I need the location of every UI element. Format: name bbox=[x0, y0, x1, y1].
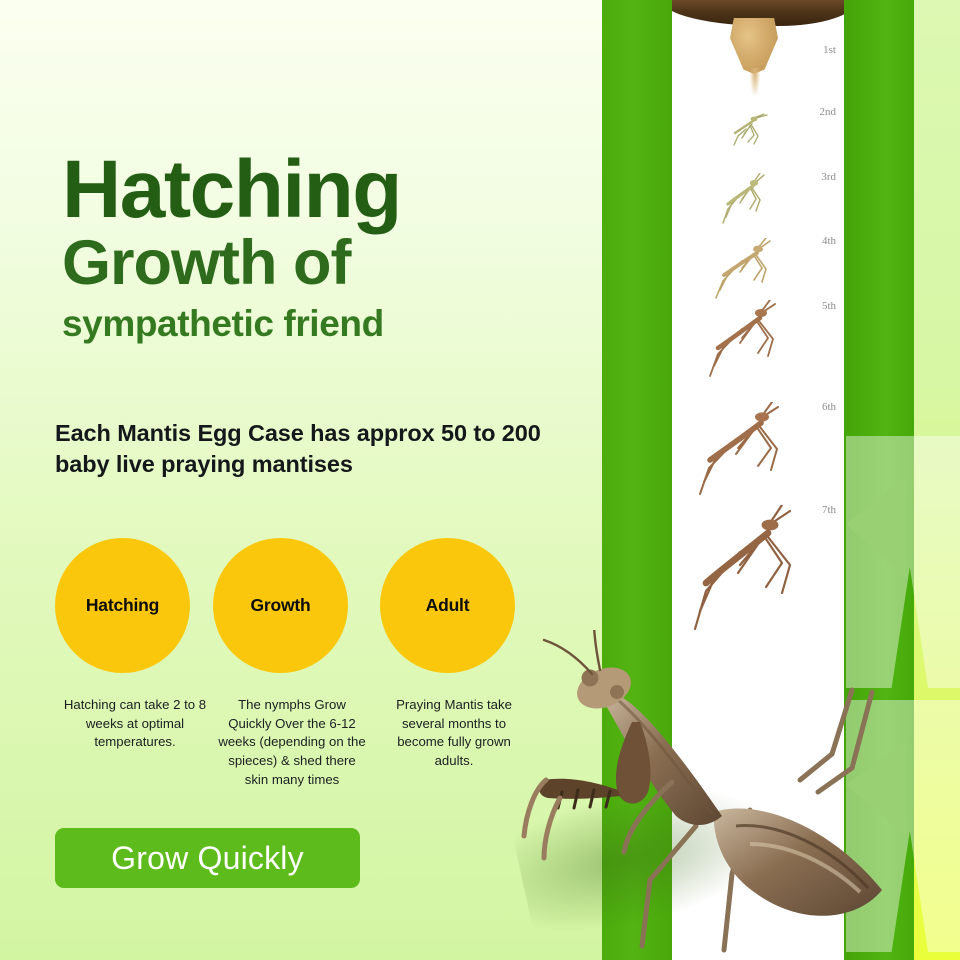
instar-label-4th: 4th bbox=[822, 235, 836, 247]
stage-caption-group: Hatching can take 2 to 8 weeks at optima… bbox=[40, 696, 560, 816]
stage-label-adult: Adult bbox=[426, 595, 470, 616]
stage-label-growth: Growth bbox=[250, 595, 310, 616]
page-title: Hatching Growth of sympathetic friend bbox=[62, 152, 582, 344]
headline-line-2: Growth of bbox=[62, 227, 582, 295]
instar-label-5th: 5th bbox=[822, 300, 836, 312]
stage-circle-group: Hatching Growth Adult bbox=[55, 538, 525, 683]
instar-label-3rd: 3rd bbox=[821, 171, 836, 183]
instar-label-1st: 1st bbox=[823, 44, 836, 56]
subheading-text: Each Mantis Egg Case has approx 50 to 20… bbox=[55, 418, 600, 481]
stage-caption-adult: Praying Mantis take several months to be… bbox=[378, 696, 530, 771]
stage-caption-hatching: Hatching can take 2 to 8 weeks at optima… bbox=[56, 696, 214, 752]
stage-circle-growth[interactable]: Growth bbox=[213, 538, 348, 673]
stage-circle-adult[interactable]: Adult bbox=[380, 538, 515, 673]
instar-label-6th: 6th bbox=[822, 401, 836, 413]
stage-caption-growth: The nymphs Grow Quickly Over the 6-12 we… bbox=[216, 696, 368, 790]
hatching-nymph-cluster-graphic bbox=[750, 68, 760, 96]
instar-label-2nd: 2nd bbox=[820, 106, 837, 118]
nymph-instar-2-graphic bbox=[724, 112, 782, 154]
nymph-instar-5-graphic bbox=[698, 300, 808, 384]
headline-line-3: sympathetic friend bbox=[62, 296, 582, 345]
grow-quickly-button[interactable]: Grow Quickly bbox=[55, 828, 360, 888]
nymph-instar-6-graphic bbox=[686, 402, 818, 502]
nymph-instar-7-graphic bbox=[678, 505, 836, 641]
grow-quickly-button-label: Grow Quickly bbox=[111, 840, 304, 877]
infographic-poster: 1st 2nd 3rd 4th 5th 6th 7th bbox=[0, 0, 960, 960]
stage-circle-hatching[interactable]: Hatching bbox=[55, 538, 190, 673]
ootheca-egg-case-graphic bbox=[730, 18, 778, 74]
nymph-instar-4-graphic bbox=[706, 238, 798, 304]
nymph-instar-3-graphic bbox=[714, 173, 788, 229]
headline-line-1: Hatching bbox=[62, 152, 582, 227]
stage-label-hatching: Hatching bbox=[86, 595, 159, 616]
